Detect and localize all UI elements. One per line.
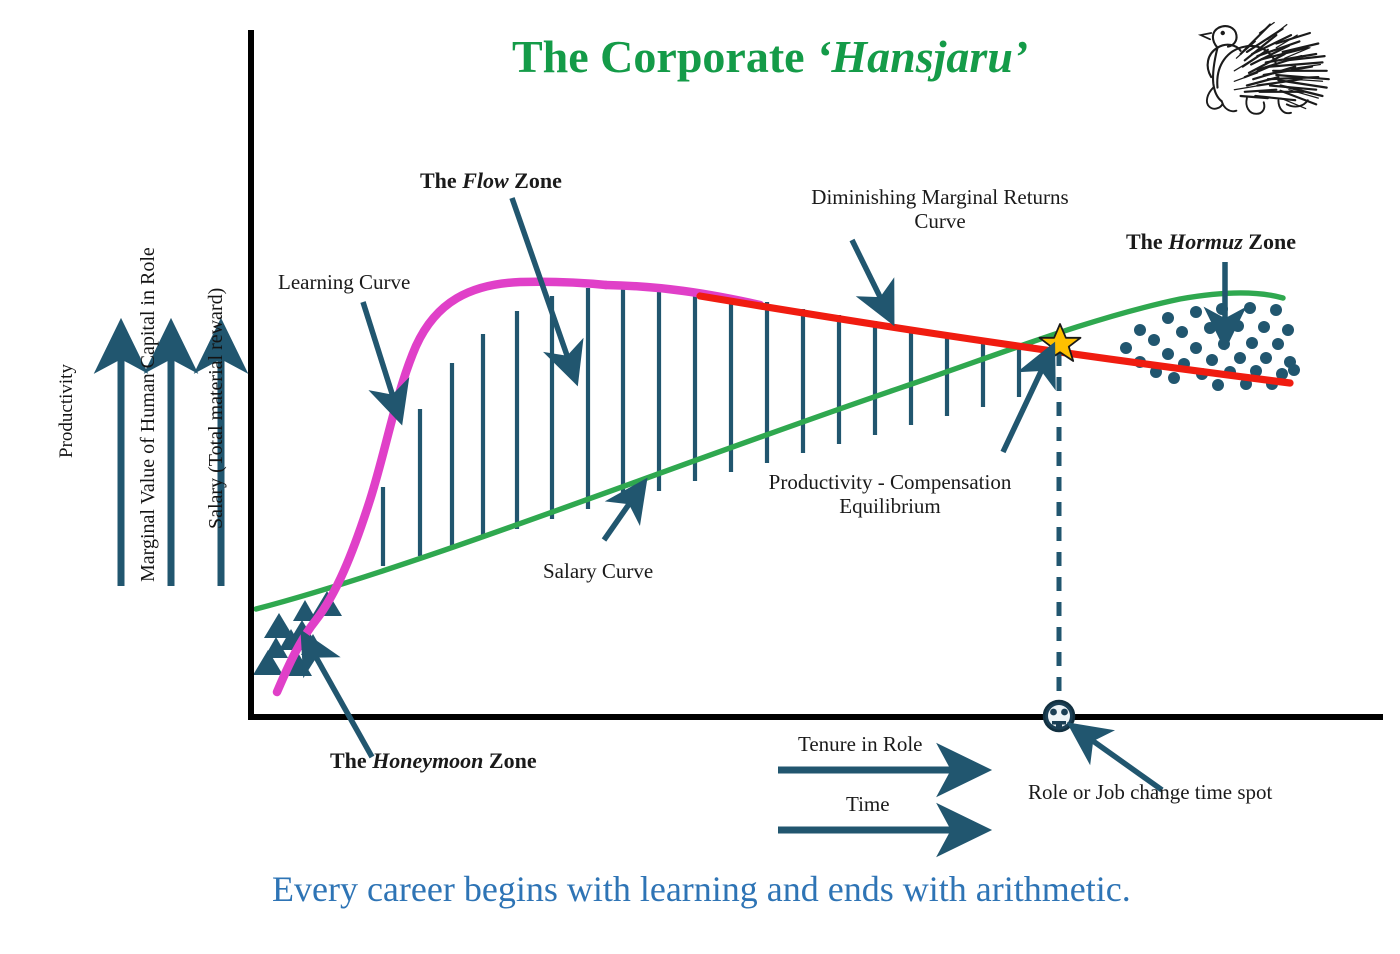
diminishing-returns-label: Diminishing Marginal Returns Curve xyxy=(770,185,1110,233)
equilibrium-label: Productivity - Compensation Equilibrium xyxy=(735,470,1045,518)
honeymoon-zone-label: The Honeymoon Zone xyxy=(330,748,537,773)
learning-curve-line xyxy=(277,282,606,692)
y-axis-label-marginal-value: Marginal Value of Human Capital in Role xyxy=(137,247,160,582)
diminishing-returns-leader xyxy=(852,240,884,305)
footer-caption: Every career begins with learning and en… xyxy=(272,868,1131,910)
diminishing-returns-line xyxy=(700,296,1290,383)
honeymoon-zone-leader xyxy=(312,650,372,757)
flow-zone-label: The Flow Zone xyxy=(420,168,562,193)
x-axis-label-tenure: Tenure in Role xyxy=(798,732,923,756)
salary-curve-leader xyxy=(604,497,634,540)
y-axis-label-productivity: Productivity xyxy=(56,364,78,458)
job-change-label: Role or Job change time spot xyxy=(1028,780,1272,804)
hormuz-zone-label: The Hormuz Zone xyxy=(1126,229,1296,254)
equilibrium-line2: Equilibrium xyxy=(735,494,1045,518)
flow-zone-hatching xyxy=(383,285,1019,566)
salary-curve-line xyxy=(256,293,1283,609)
diminishing-returns-line2: Curve xyxy=(770,209,1110,233)
learning-curve-label: Learning Curve xyxy=(278,270,410,294)
face-marker-icon xyxy=(1044,701,1074,731)
equilibrium-leader xyxy=(1003,363,1045,452)
x-axis-label-time: Time xyxy=(846,792,890,816)
y-axis-label-salary: Salary (Total material reward) xyxy=(205,288,228,529)
diminishing-returns-line1: Diminishing Marginal Returns xyxy=(770,185,1110,209)
learning-curve-leader xyxy=(363,302,395,403)
diagram-canvas: The Corporate ‘Hansjaru’ xyxy=(0,0,1400,954)
equilibrium-line1: Productivity - Compensation xyxy=(735,470,1045,494)
salary-curve-label: Salary Curve xyxy=(543,559,653,583)
